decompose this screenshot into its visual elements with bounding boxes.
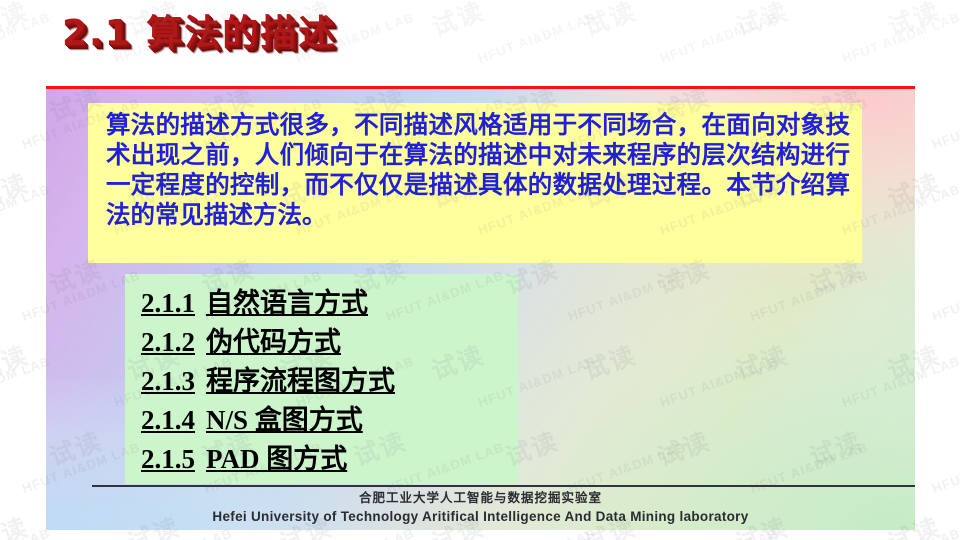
list-item-label: PAD 图方式 [206,444,347,474]
watermark-text-cn: 试读 [0,508,33,540]
list-item[interactable]: 2.1.4N/S 盒图方式 [141,401,518,440]
footer-lab-name-en: Hefei University of Technology Aritifica… [46,507,915,526]
watermark-text-en: HFUT AI&DM LAB [930,95,960,152]
watermark-text-en: HFUT AI&DM LAB [930,439,960,496]
page-title: 2.1 算法的描述 [62,4,336,56]
list-item-label: 程序流程图方式 [206,366,395,397]
slide: 2.1 算法的描述 算法的描述方式很多，不同描述风格适用于不同场合，在面向对象技… [0,0,960,540]
list-item-number: 2.1.2 [141,327,195,357]
watermark-text-cn: 试读 [0,336,33,388]
list-item[interactable]: 2.1.5PAD 图方式 [141,440,518,479]
title-bar: 2.1 算法的描述 [0,0,960,80]
footer-divider-rule [92,485,915,487]
section-list-box: 2.1.1自然语言方式 2.1.2伪代码方式 2.1.3程序流程图方式 2.1.… [125,274,518,484]
intro-callout-box: 算法的描述方式很多，不同描述风格适用于不同场合，在面向对象技术出现之前，人们倾向… [88,103,862,263]
watermark-text-cn: 试读 [0,164,33,216]
footer: 合肥工业大学人工智能与数据挖掘实验室 Hefei University of T… [46,489,915,526]
content-panel: 算法的描述方式很多，不同描述风格适用于不同场合，在面向对象技术出现之前，人们倾向… [46,89,915,530]
watermark-text-en: HFUT AI&DM LAB [930,267,960,324]
list-item-number: 2.1.5 [141,444,195,474]
list-item-label: 自然语言方式 [206,288,368,319]
list-item-label: 伪代码方式 [206,327,341,358]
watermark-text-cn: 试读 [956,78,960,130]
watermark-text-en: HFUT AI&DM LAB [0,181,52,238]
watermark-text-cn: 试读 [956,422,960,474]
list-item[interactable]: 2.1.1自然语言方式 [141,284,518,323]
title-divider-rule [46,86,915,89]
watermark-text-cn: 试读 [956,250,960,302]
watermark-text-en: HFUT AI&DM LAB [0,525,52,540]
intro-paragraph: 算法的描述方式很多，不同描述风格适用于不同场合，在面向对象技术出现之前，人们倾向… [106,110,850,230]
list-item[interactable]: 2.1.3程序流程图方式 [141,362,518,401]
list-item[interactable]: 2.1.2伪代码方式 [141,323,518,362]
footer-lab-name-cn: 合肥工业大学人工智能与数据挖掘实验室 [46,489,915,507]
list-item-number: 2.1.4 [141,405,195,435]
watermark-text-en: HFUT AI&DM LAB [0,353,52,410]
list-item-number: 2.1.1 [141,288,195,318]
list-item-number: 2.1.3 [141,366,195,396]
list-item-label: N/S 盒图方式 [206,405,363,435]
